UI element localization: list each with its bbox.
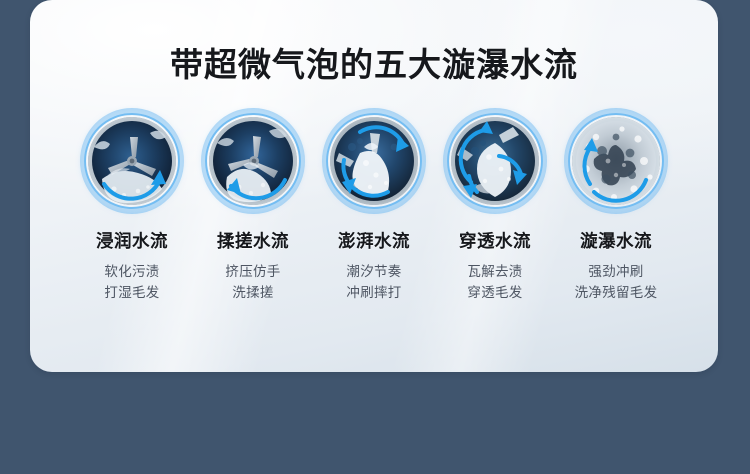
flow-sub-2: 洗揉搓 (225, 282, 280, 303)
flow-sub-2: 洗净残留毛发 (575, 282, 658, 303)
flow-subs: 强劲冲刷 洗净残留毛发 (575, 261, 658, 303)
flow-title: 漩瀑水流 (580, 228, 652, 253)
flow-illustration-1 (80, 108, 184, 214)
accent-ring (84, 113, 180, 209)
flow-subs: 挤压仿手 洗揉搓 (225, 261, 280, 303)
flow-item-chuantou[interactable]: 穿透水流 瓦解去渍 穿透毛发 (435, 108, 556, 303)
flow-title: 澎湃水流 (338, 228, 410, 253)
flow-illustration-4 (443, 108, 547, 214)
flow-subs: 潮汐节奏 冲刷摔打 (346, 261, 401, 303)
flow-illustration-3 (322, 108, 426, 214)
content-card: 带超微气泡的五大漩瀑水流 (30, 0, 718, 372)
accent-ring (568, 113, 664, 209)
flow-title: 揉搓水流 (217, 228, 289, 253)
flow-sub-1: 强劲冲刷 (575, 261, 658, 282)
water-flow-list: 浸润水流 软化污渍 打湿毛发 (44, 108, 704, 303)
page-title: 带超微气泡的五大漩瀑水流 (30, 38, 718, 86)
flow-item-rousuo[interactable]: 揉搓水流 挤压仿手 洗揉搓 (193, 108, 314, 303)
flow-sub-1: 挤压仿手 (225, 261, 280, 282)
flow-subs: 瓦解去渍 穿透毛发 (467, 261, 522, 303)
flow-illustration-5 (564, 108, 668, 214)
accent-ring (205, 113, 301, 209)
flow-illustration-2 (201, 108, 305, 214)
flow-sub-1: 潮汐节奏 (346, 261, 401, 282)
flow-sub-1: 软化污渍 (104, 261, 159, 282)
flow-sub-2: 打湿毛发 (104, 282, 159, 303)
flow-sub-2: 冲刷摔打 (346, 282, 401, 303)
flow-title: 穿透水流 (459, 228, 531, 253)
flow-sub-2: 穿透毛发 (467, 282, 522, 303)
flow-sub-1: 瓦解去渍 (467, 261, 522, 282)
accent-ring (447, 113, 543, 209)
accent-ring (326, 113, 422, 209)
flow-subs: 软化污渍 打湿毛发 (104, 261, 159, 303)
flow-item-xuanpu[interactable]: 漩瀑水流 强劲冲刷 洗净残留毛发 (556, 108, 677, 303)
flow-item-pengpai[interactable]: 澎湃水流 潮汐节奏 冲刷摔打 (314, 108, 435, 303)
flow-title: 浸润水流 (96, 228, 168, 253)
outer-frame: 带超微气泡的五大漩瀑水流 (0, 0, 750, 474)
flow-item-jinrun[interactable]: 浸润水流 软化污渍 打湿毛发 (72, 108, 193, 303)
